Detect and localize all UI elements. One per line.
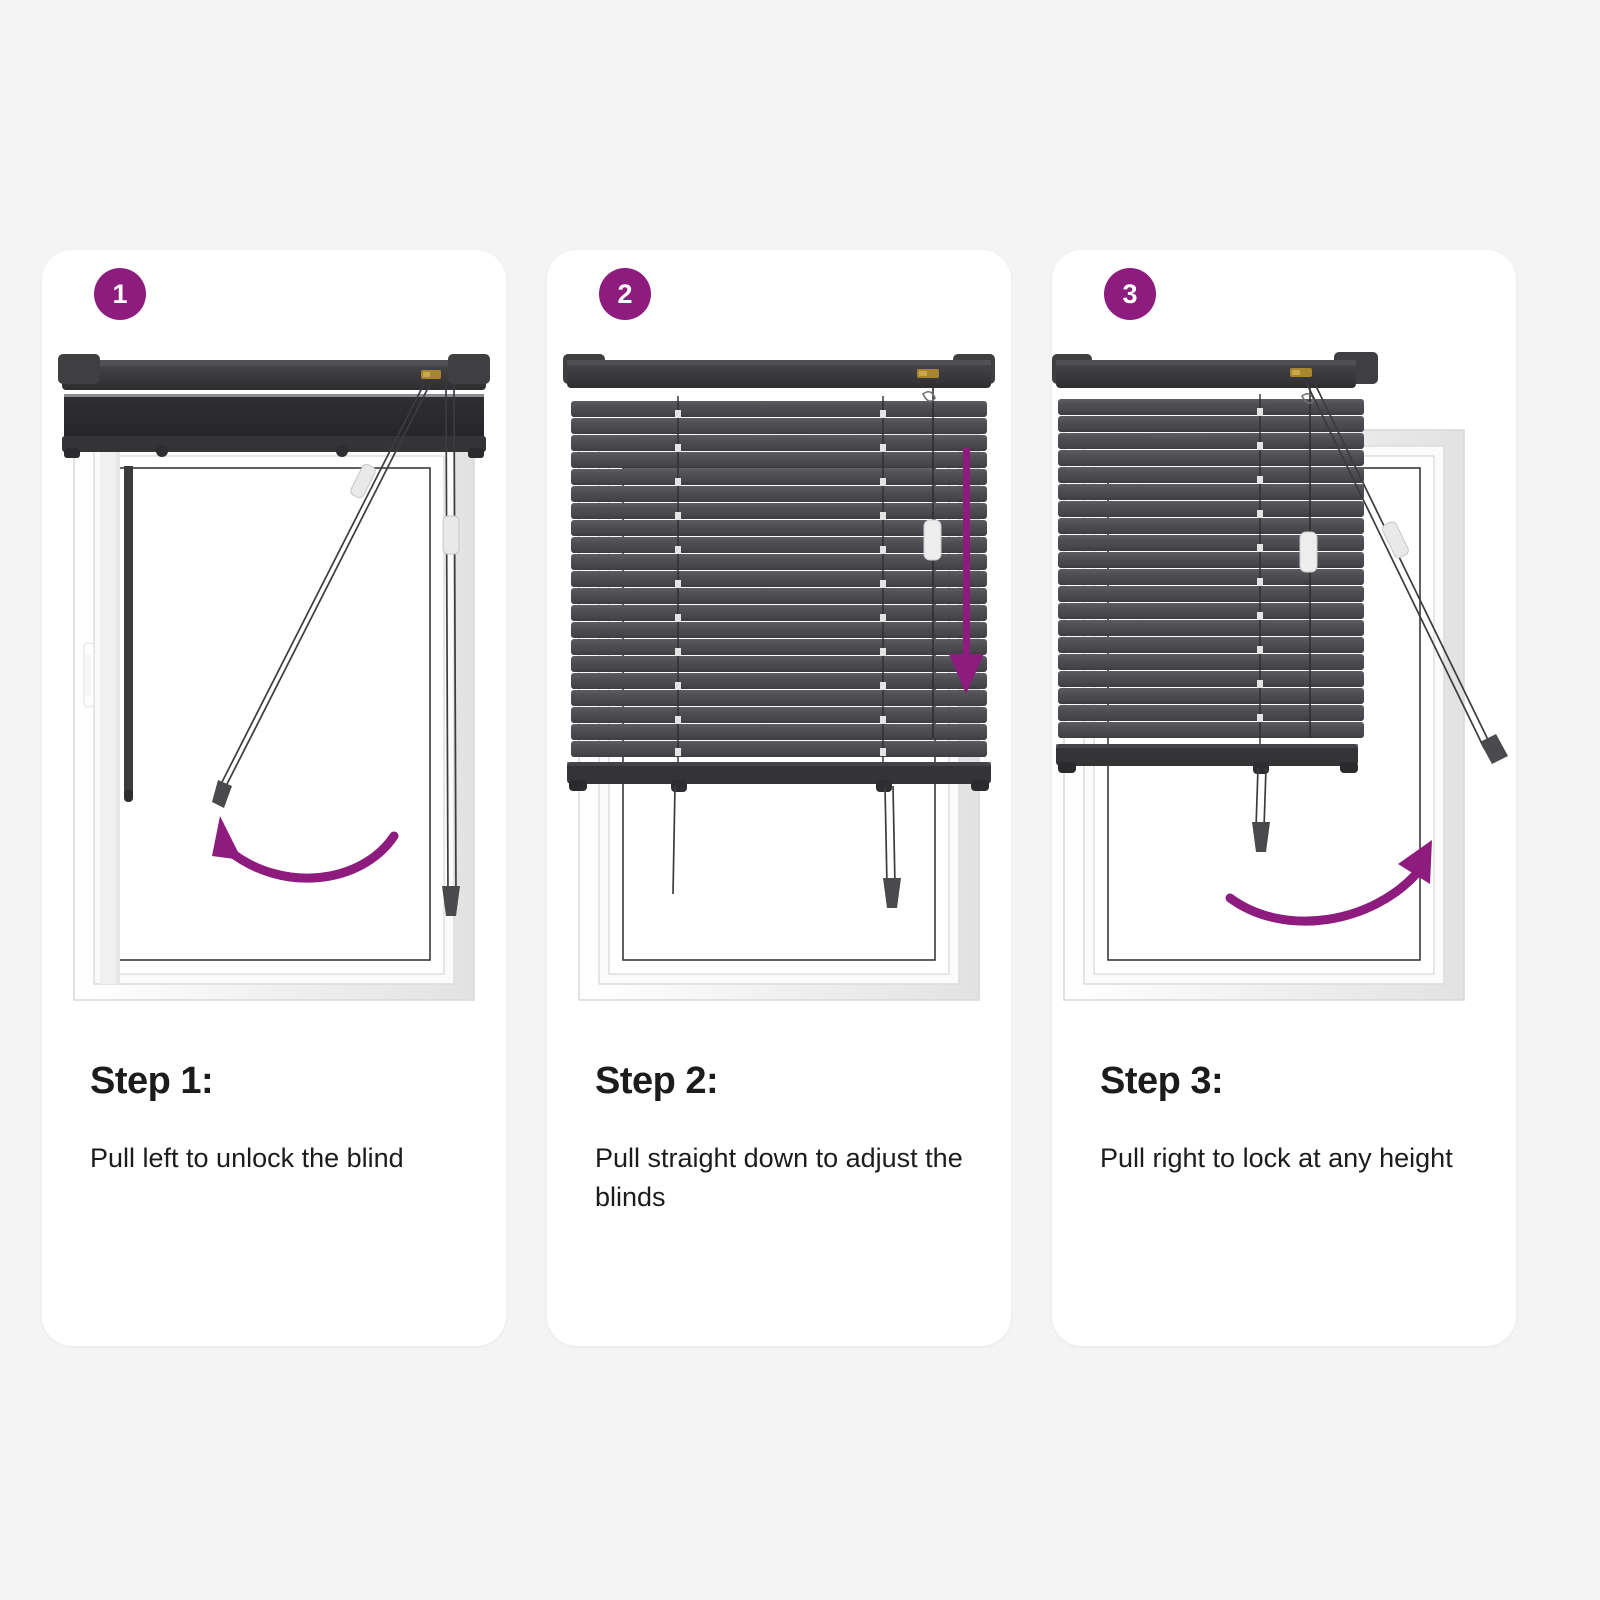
step-badge-1: 1 (94, 268, 146, 320)
step-title-1: Step 1: (90, 1060, 470, 1103)
slat-stack (1058, 392, 1364, 738)
step-badge-3: 3 (1104, 268, 1156, 320)
step-caption-2: Step 2: Pull straight down to adjust the… (595, 1060, 975, 1217)
step-card-list: 1 (42, 250, 1558, 1346)
step-description-2: Pull straight down to adjust the blinds (595, 1139, 975, 1217)
step-description-1: Pull left to unlock the blind (90, 1139, 470, 1178)
window-blind-partial-icon (1052, 338, 1516, 1058)
step-title-2: Step 2: (595, 1060, 975, 1103)
window-blind-lowered-icon (547, 338, 1011, 1058)
cord-lock-icon (1290, 368, 1312, 377)
step-description-3: Pull right to lock at any height (1100, 1139, 1480, 1178)
slat-stack (571, 394, 987, 757)
step-card-1: 1 (42, 250, 506, 1346)
step-caption-1: Step 1: Pull left to unlock the blind (90, 1060, 470, 1178)
step-title-3: Step 3: (1100, 1060, 1480, 1103)
step-badge-2: 2 (599, 268, 651, 320)
step-caption-3: Step 3: Pull right to lock at any height (1100, 1060, 1480, 1178)
cord-lock-icon (421, 370, 441, 379)
step-card-3: 3 (1052, 250, 1516, 1346)
window-blind-raised-icon (42, 338, 506, 1058)
instruction-diagram: 1 (0, 0, 1600, 1600)
step-card-2: 2 (547, 250, 1011, 1346)
cord-lock-icon (917, 369, 939, 378)
window-handle-icon (84, 643, 94, 707)
